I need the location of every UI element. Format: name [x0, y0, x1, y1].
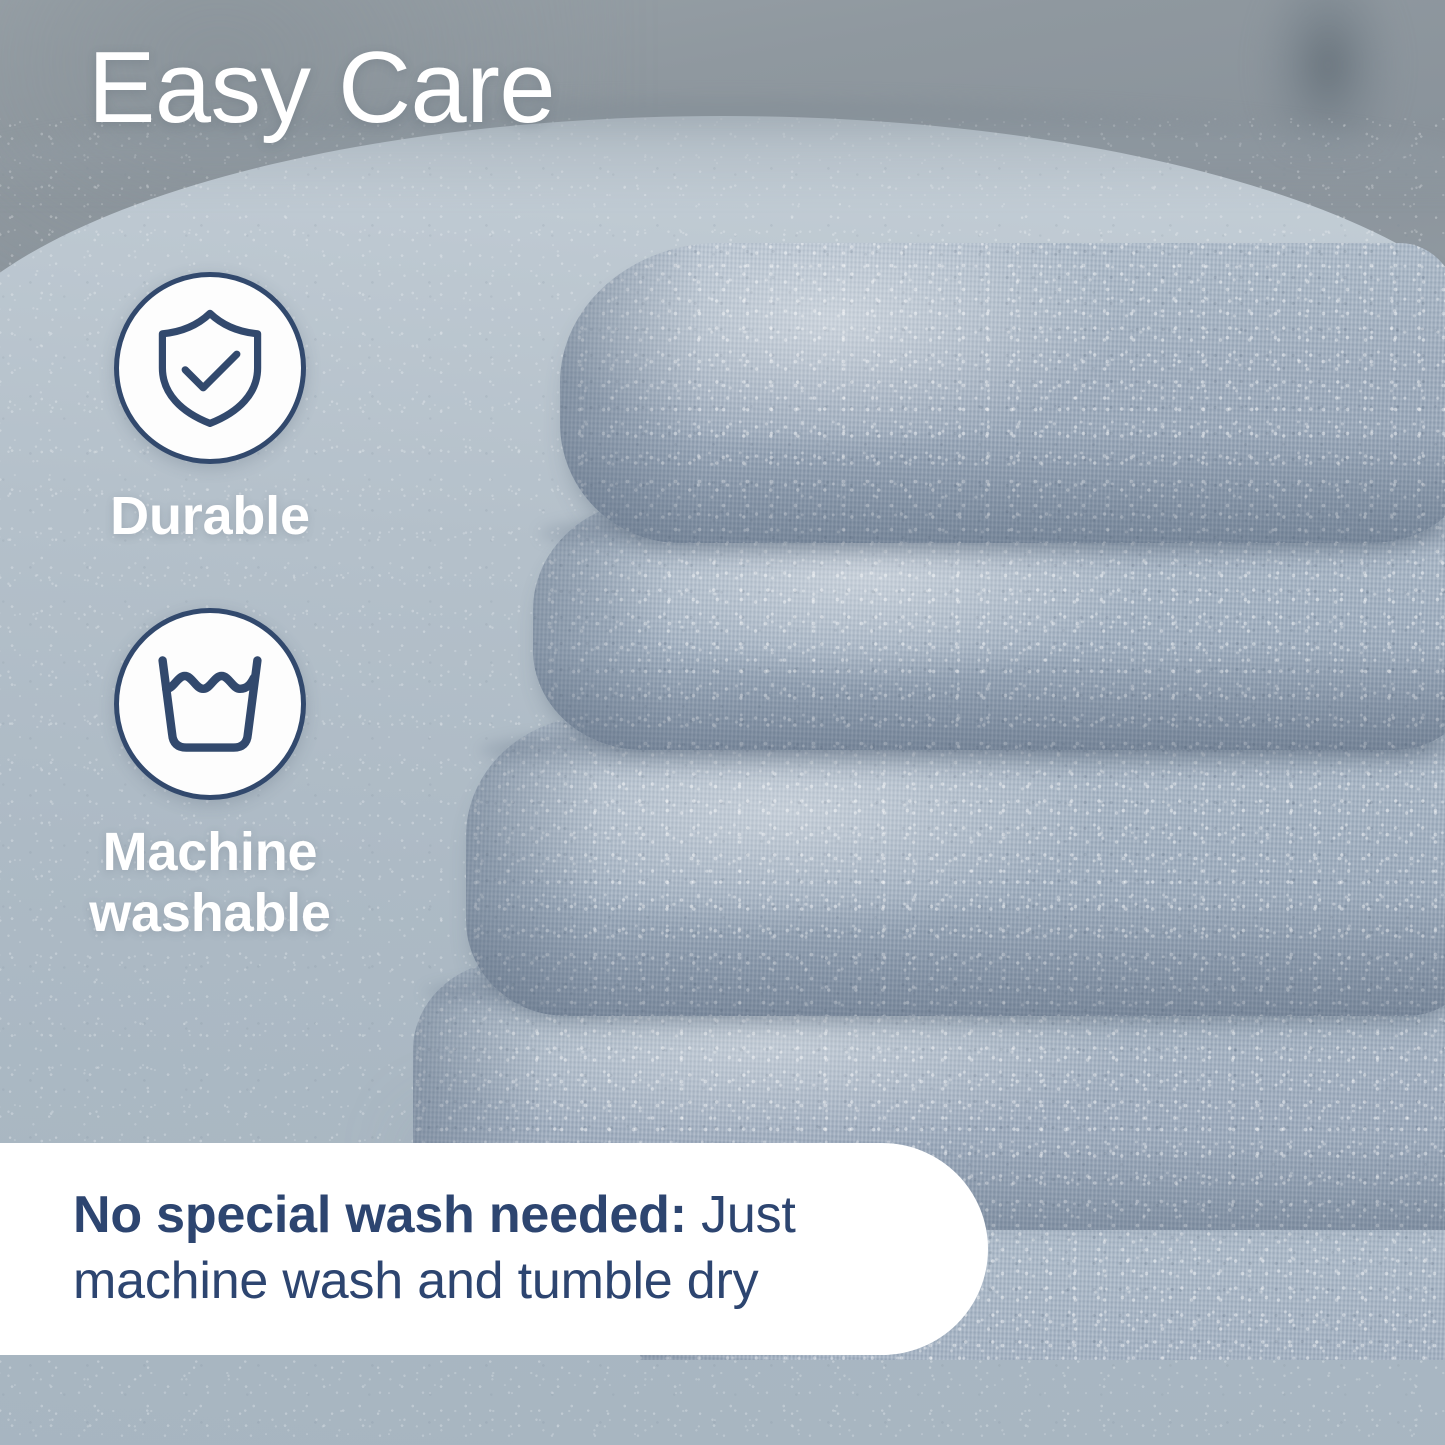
fabric-sheen: [560, 243, 1445, 543]
caption-text: No special wash needed: Just machine was…: [0, 1183, 988, 1314]
page-title: Easy Care: [88, 34, 555, 143]
caption-banner: No special wash needed: Just machine was…: [0, 1143, 988, 1355]
machine-washable-label-line2: washable: [89, 883, 331, 943]
machine-washable-badge: [114, 608, 306, 800]
caption-bold: No special wash needed:: [73, 1186, 687, 1244]
machine-wash-tub-icon: [151, 652, 269, 756]
sheet-fold-1: [560, 243, 1445, 543]
durable-label: Durable: [110, 486, 310, 547]
product-feature-image: Easy Care Durable Machine washable: [0, 0, 1445, 1445]
shield-check-icon: [152, 307, 268, 429]
machine-washable-label: Machine washable: [89, 822, 331, 944]
durable-badge: [114, 272, 306, 464]
feature-durable: Durable: [0, 272, 420, 547]
feature-machine-washable: Machine washable: [0, 608, 420, 944]
machine-washable-label-line1: Machine: [103, 822, 318, 882]
